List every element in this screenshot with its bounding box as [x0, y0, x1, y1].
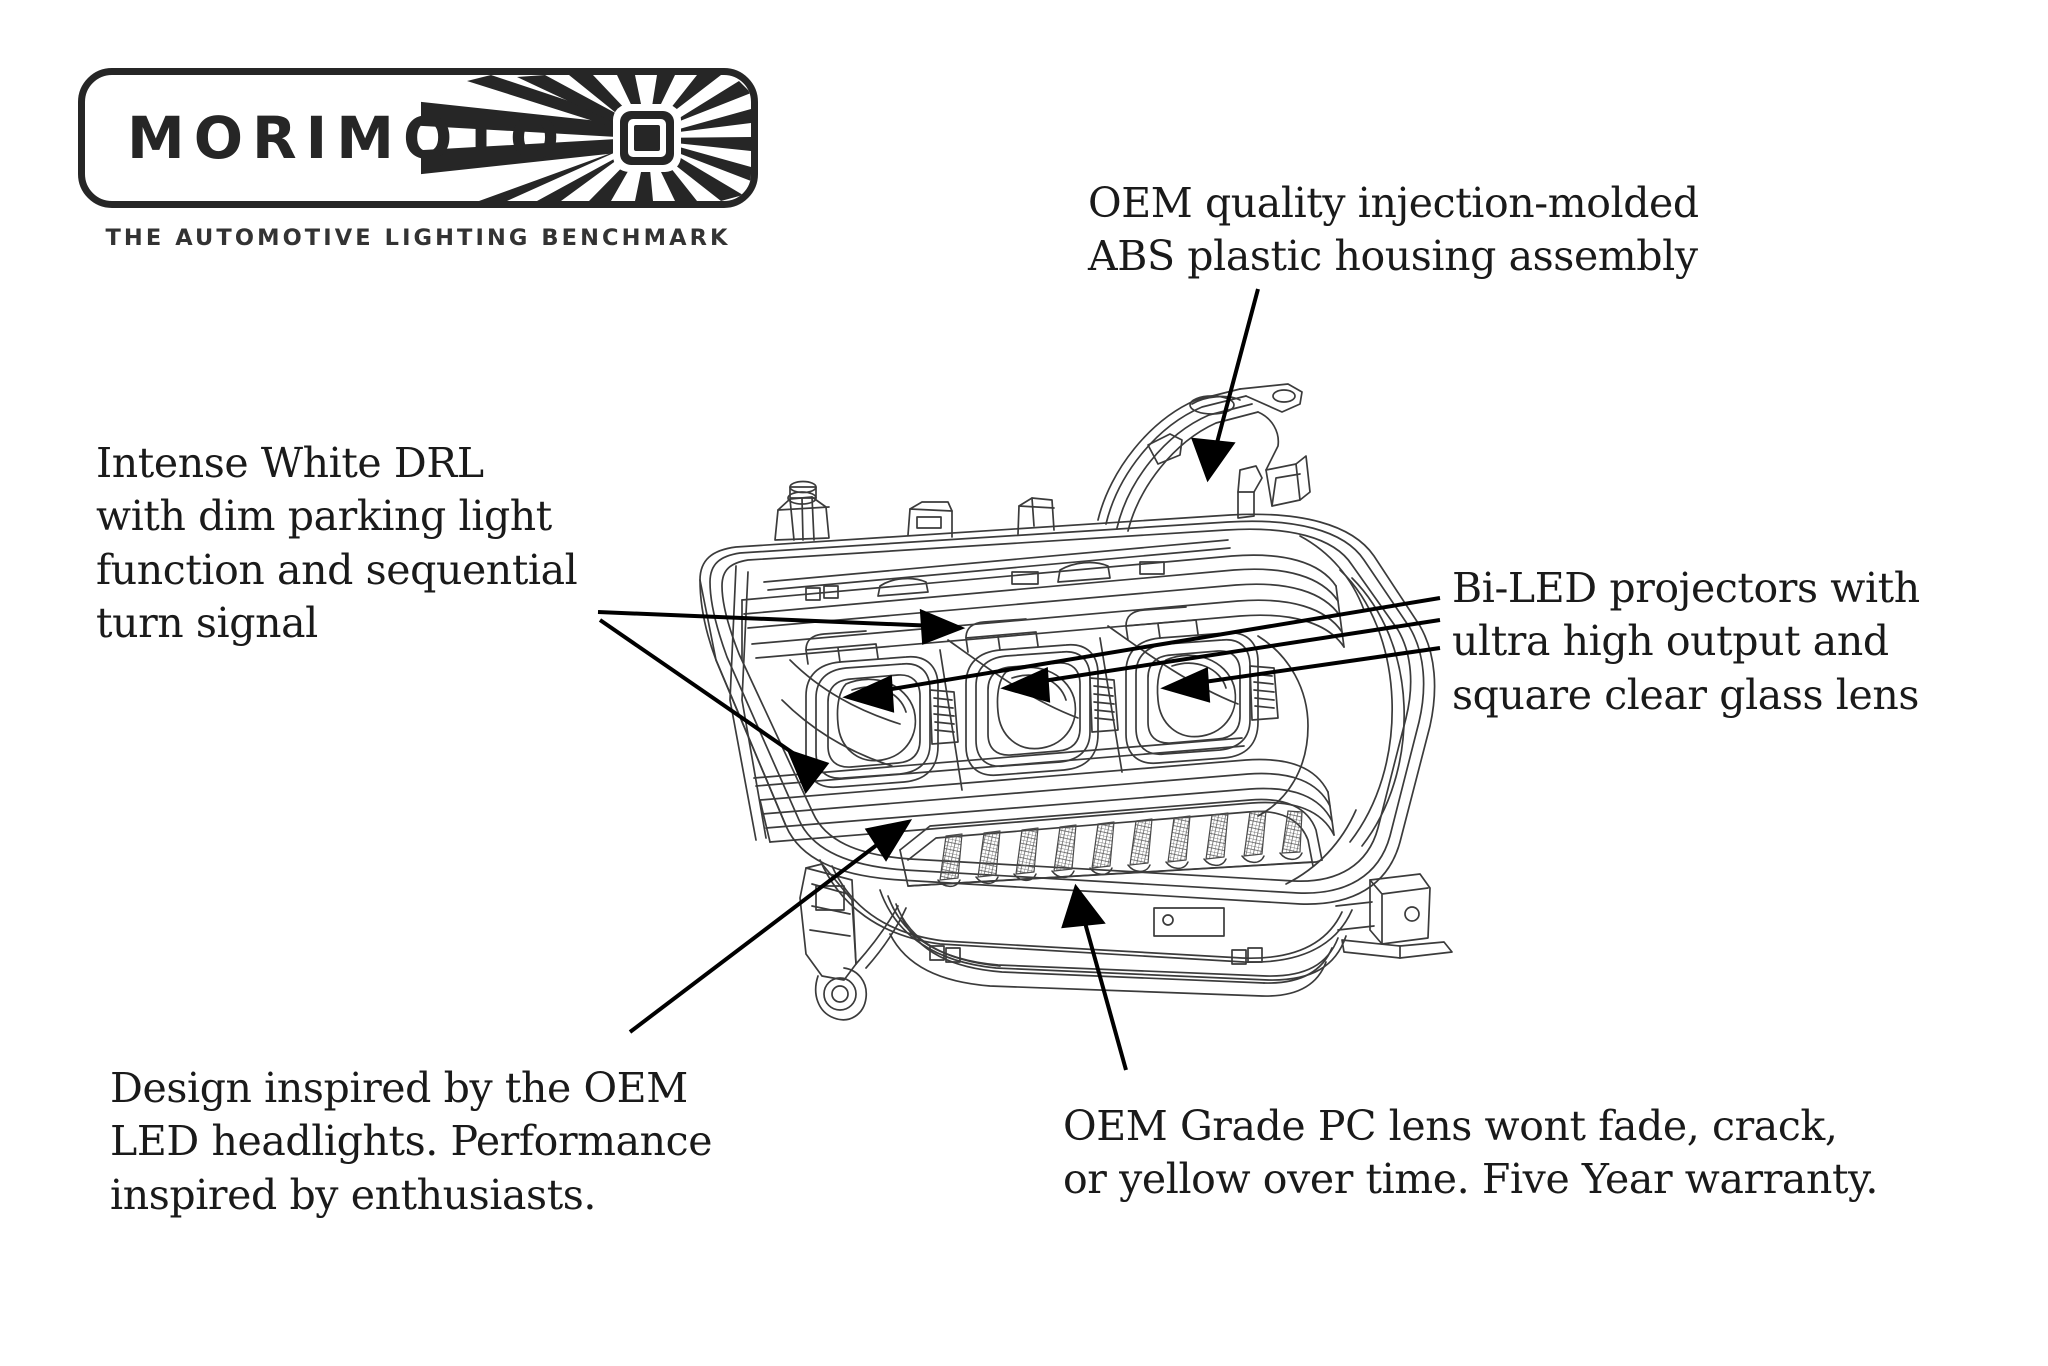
logo-wordmark: MORIMOTO — [127, 109, 568, 167]
leader-drl-upper — [598, 612, 960, 642]
leader-drl-lower — [600, 620, 826, 790]
leader-housing — [1194, 289, 1258, 478]
leader-projector-1 — [848, 598, 1440, 710]
leader-lens — [1064, 888, 1126, 1070]
leader-design — [630, 822, 908, 1032]
callout-leader-lines — [0, 0, 2048, 1366]
